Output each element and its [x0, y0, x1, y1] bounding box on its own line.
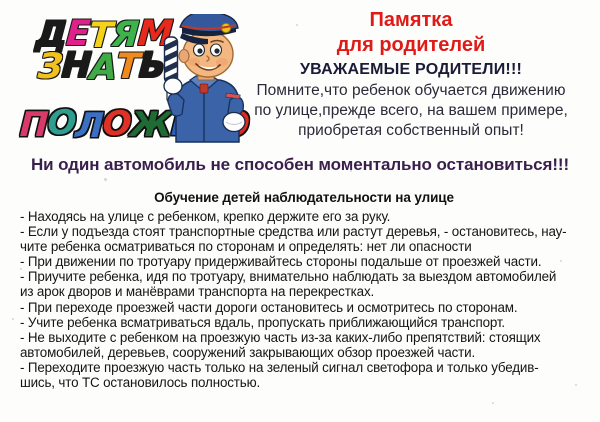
advice-line-list: - Находясь на улице с ребенком, крепко д… [20, 209, 588, 390]
logo-letter: З [37, 50, 63, 85]
advice-line: - Учите ребенка всматриваться вдаль, про… [20, 315, 588, 330]
scan-speck [296, 24, 298, 26]
advice-line: автомобилей, деревьев, сооружений закрыв… [20, 345, 588, 360]
header-title-line2: для родителей [228, 33, 594, 58]
advice-line: - Находясь на улице с ребенком, крепко д… [20, 209, 588, 224]
poster-header: Памятка для родителей УВАЖАЕМЫЕ РОДИТЕЛИ… [228, 8, 594, 141]
logo-letter: П [19, 108, 48, 142]
header-body-line: Помните,что ребенок обучается движению [228, 81, 594, 101]
header-body-line: по улице,прежде всего, на вашем примере, [228, 101, 594, 121]
header-title-line1: Памятка [228, 8, 594, 33]
header-body: Помните,что ребенок обучается движению п… [228, 81, 594, 141]
advice-section: Обучение детей наблюдательности на улице… [20, 190, 588, 390]
scan-speck [350, 170, 352, 172]
logo-letter: А [89, 51, 118, 86]
advice-line: из арок дворов и манёврами транспорта на… [20, 284, 588, 299]
advice-line: - Не выходите с ребенком на проезжую час… [20, 330, 588, 345]
advice-line: - Переходите проезжую часть только на зе… [20, 360, 588, 375]
header-body-line: приобретая собственный опыт! [228, 121, 594, 141]
advice-line: чите ребенка осматриваться по сторонам и… [20, 239, 588, 254]
advice-line: - При переходе проезжей части дороги ост… [20, 300, 588, 315]
logo-letter: О [102, 107, 132, 141]
logo-letter: Т [115, 50, 140, 85]
scan-speck [20, 268, 22, 270]
scan-speck [104, 178, 107, 181]
scan-speck [560, 260, 562, 262]
advice-line: шись, что ТС остановилось полностью. [20, 375, 588, 390]
logo-letter: Н [61, 49, 92, 84]
advice-line: - При движении по тротуару придерживайте… [20, 254, 588, 269]
warning-banner: Ни один автомобиль не способен моменталь… [0, 155, 600, 175]
logo-letter: Л [74, 109, 103, 143]
header-subtitle: УВАЖАЕМЫЕ РОДИТЕЛИ!!! [228, 61, 594, 79]
scan-speck [12, 318, 14, 320]
scan-speck [575, 384, 577, 386]
advice-line: - Приучите ребенка, идя по тротуару, вни… [20, 269, 588, 284]
advice-heading: Обучение детей наблюдательности на улице [20, 190, 588, 205]
poster-root: ДЕТЯМ ЗНАТЬ ПОЛОЖЕНО [0, 0, 600, 422]
advice-line: - Если у подъезда стоят транспортные сре… [20, 224, 588, 239]
logo-letter: О [47, 106, 77, 140]
scan-speck [492, 402, 494, 404]
